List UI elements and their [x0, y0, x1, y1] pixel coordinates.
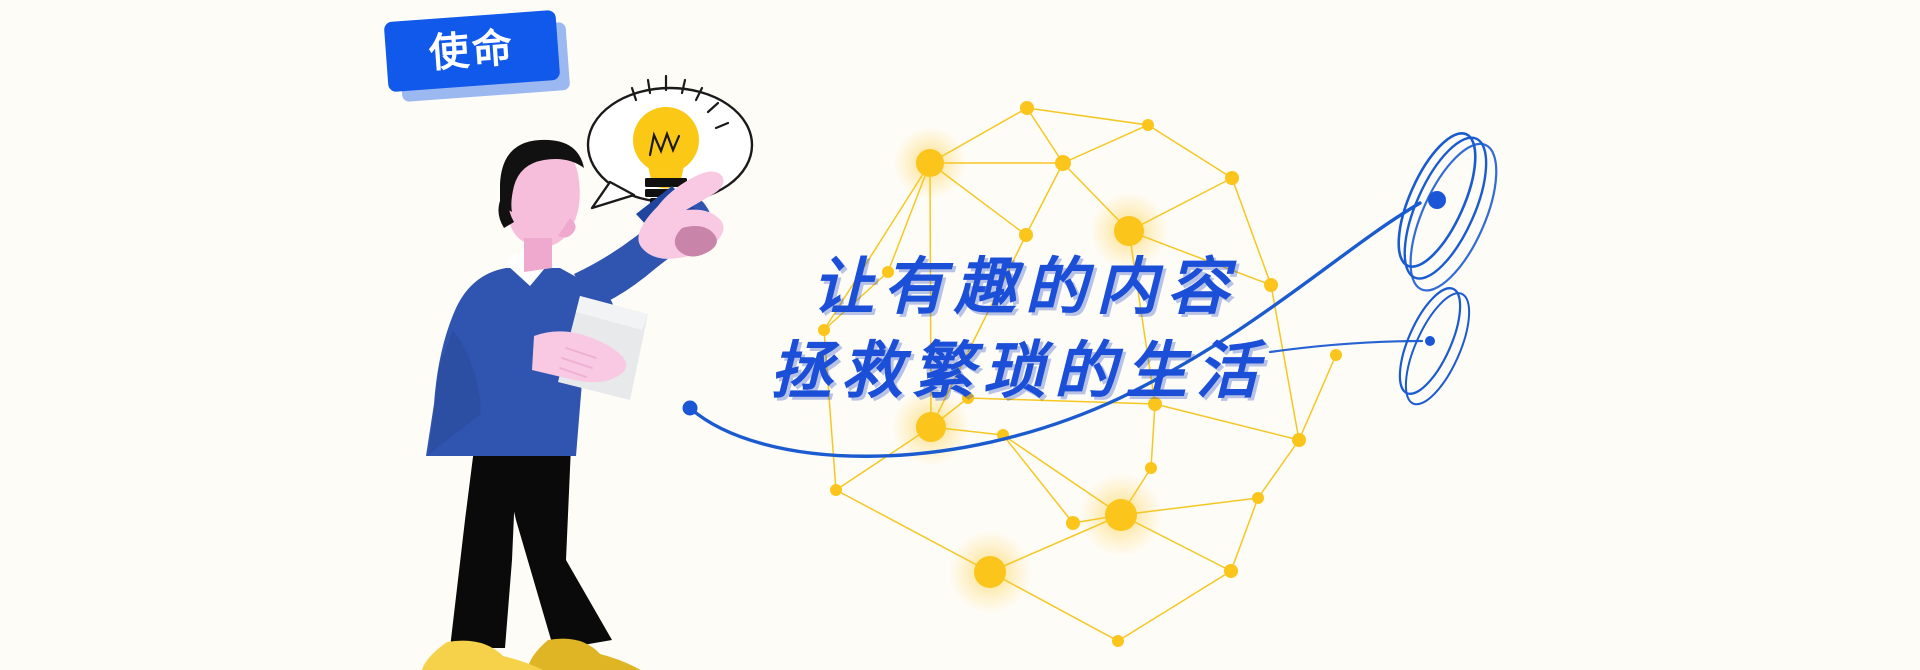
headline-line-1: 让有趣的内容 [812, 245, 1532, 329]
headline-line-2: 拯救繁琐的生活 [770, 329, 1532, 413]
badge-label: 使命 [428, 28, 517, 74]
character-head [498, 140, 584, 272]
character-shoes [421, 639, 648, 670]
mission-banner: 使命 让有趣的内容 拯救繁琐的生活 [0, 0, 1920, 670]
badge-plate: 使命 [384, 10, 561, 92]
mission-badge[interactable]: 使命 [386, 12, 576, 104]
headline: 让有趣的内容 拯救繁琐的生活 [812, 245, 1532, 413]
